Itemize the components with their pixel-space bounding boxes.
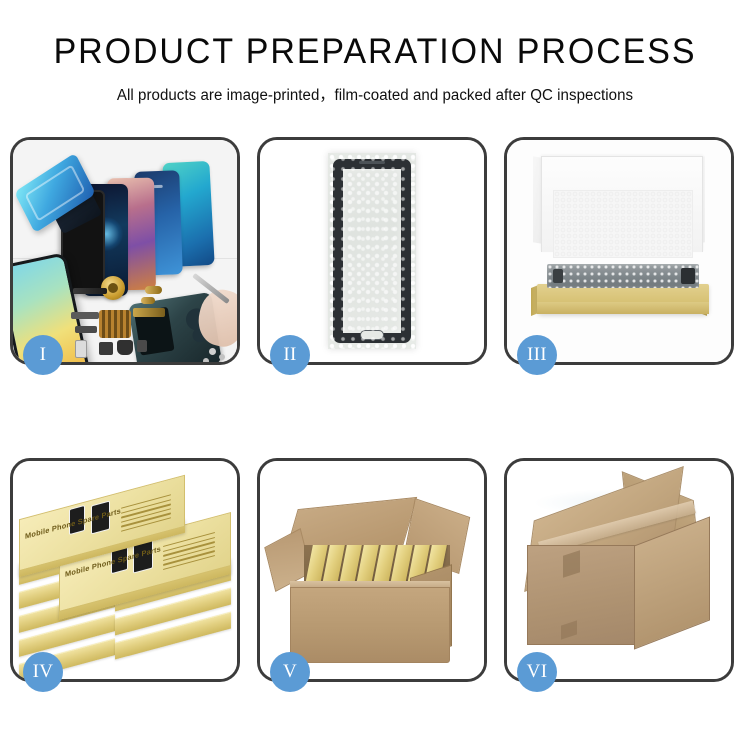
foam-lining-icon (553, 190, 693, 258)
flex-cable-2-part-icon (75, 326, 97, 333)
page-title: PRODUCT PREPARATION PROCESS (11, 34, 739, 71)
screw-icon (219, 354, 225, 360)
process-step-5[interactable]: V (257, 458, 487, 682)
flex-cable-part-icon (71, 312, 99, 319)
step-6-image (507, 461, 731, 679)
chip-grid-part-icon (99, 310, 131, 338)
process-step-4[interactable]: Mobile Phone Spare Parts Mobile Phone Sp… (10, 458, 240, 682)
taptic-module-part-icon (117, 340, 133, 355)
side-button-part-icon (145, 286, 162, 294)
screw-icon (203, 358, 209, 362)
bubble-wrap-icon (328, 153, 416, 349)
step-badge-4: IV (23, 652, 63, 692)
volume-button-part-icon (141, 297, 155, 304)
wrapped-part-icon (547, 264, 699, 288)
carton-front-face (290, 587, 450, 663)
step-2-image (260, 140, 484, 362)
step-badge-2: II (270, 335, 310, 375)
process-step-2[interactable]: II (257, 137, 487, 365)
box-stack: Mobile Phone Spare Parts Mobile Phone Sp… (17, 475, 237, 671)
process-step-3[interactable]: III (504, 137, 734, 365)
step-badge-1: I (23, 335, 63, 375)
process-step-1[interactable]: I (10, 137, 240, 365)
page-subtitle: All products are image-printed，film-coat… (6, 83, 745, 105)
screw-icon (209, 348, 216, 355)
box-front-panel (537, 302, 709, 314)
gold-connector-part-icon (133, 308, 165, 317)
step-badge-6: VI (517, 652, 557, 692)
step-4-image: Mobile Phone Spare Parts Mobile Phone Sp… (13, 461, 237, 679)
step-5-image (260, 461, 484, 679)
page-header: PRODUCT PREPARATION PROCESS All products… (0, 0, 750, 105)
process-step-grid: I II III (10, 137, 740, 682)
phone-screen-frame-icon (333, 159, 411, 343)
process-step-6[interactable]: VI (504, 458, 734, 682)
step-badge-3: III (517, 335, 557, 375)
small-module-part-icon (99, 342, 113, 355)
step-3-image (507, 140, 731, 362)
camera-module-part-icon (75, 340, 87, 358)
step-1-image (13, 140, 237, 362)
step-badge-5: V (270, 652, 310, 692)
flex-strip-part-icon (73, 288, 107, 294)
sensor-part-icon (137, 340, 147, 352)
carton-front-face (527, 545, 635, 645)
